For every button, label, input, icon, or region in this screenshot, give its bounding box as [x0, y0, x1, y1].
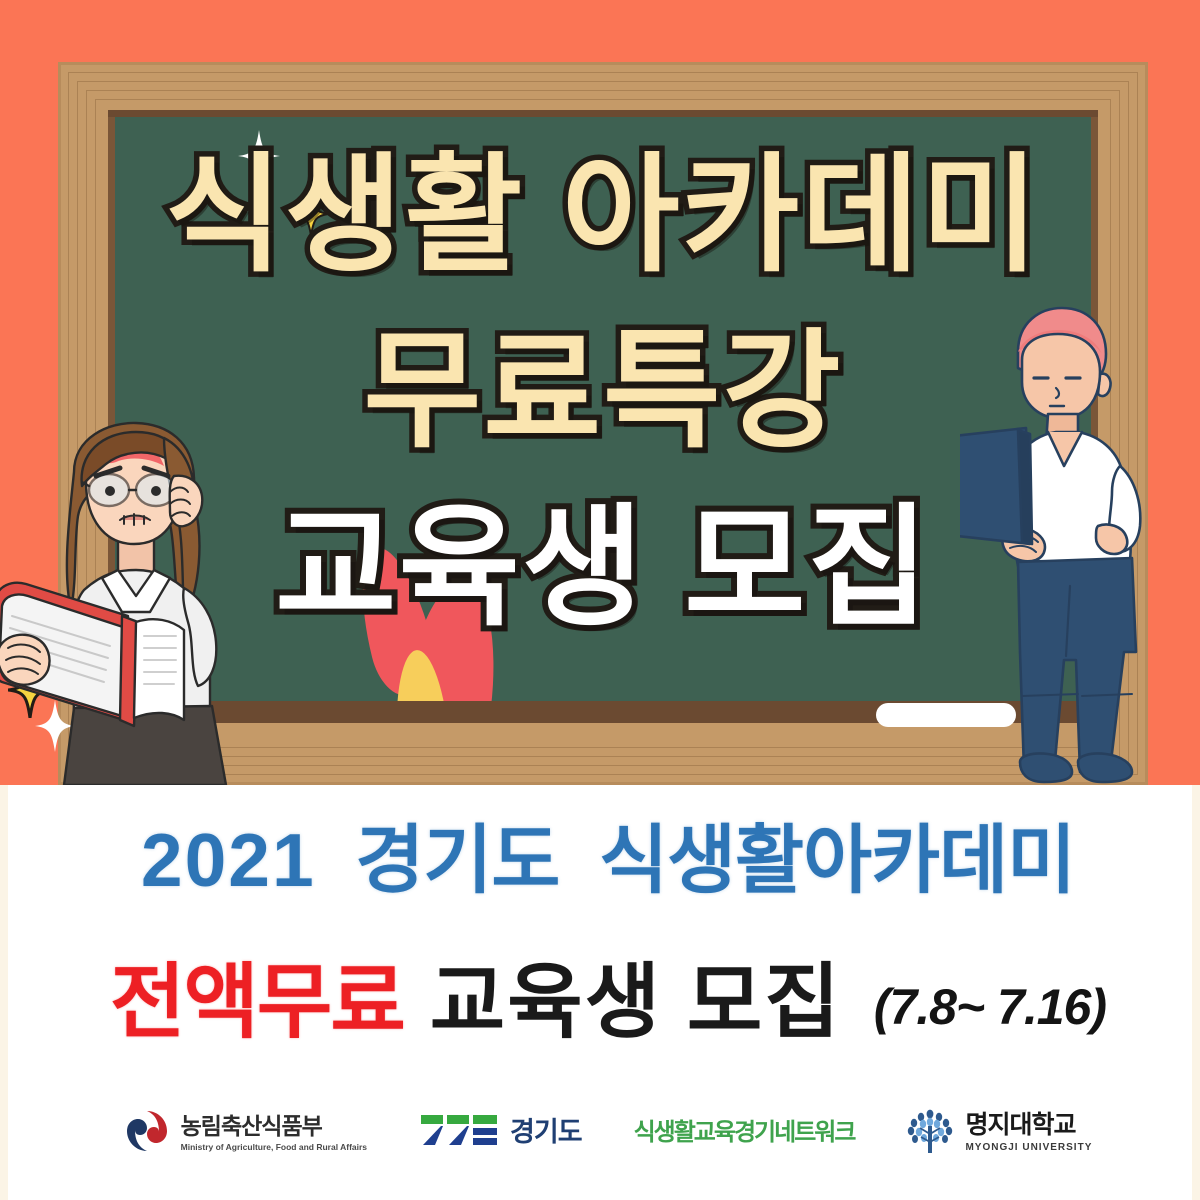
logo-gyeonggi-ko: 경기도 — [510, 1118, 582, 1148]
taegeuk-icon — [124, 1108, 170, 1159]
logo-network: 식생활교육경기네트워크 — [634, 1120, 855, 1146]
logo-gyeonggi: 경기도 — [419, 1112, 582, 1155]
banner-headline: 2021 경기도 식생활아카데미 — [8, 799, 1200, 908]
application-date-range: (7.8~ 7.16) — [874, 978, 1106, 1036]
recruit-label: 교육생 모집 — [430, 935, 842, 1054]
chalkboard-hero-section: 식생활 아카데미 무료특강 교육생 모집 — [0, 0, 1200, 785]
banner-subheadline: 전액무료 교육생 모집 (7.8~ 7.16) — [8, 935, 1200, 1054]
logo-myongji-ko: 명지대학교 — [965, 1112, 1092, 1140]
logo-myongji-en: MYONGJI UNIVERSITY — [965, 1142, 1092, 1154]
banner-program: 식생활아카데미 — [599, 818, 1075, 902]
gyeonggi-bars-icon — [419, 1112, 499, 1155]
logo-mafra-en: Ministry of Agriculture, Food and Rural … — [181, 1142, 367, 1152]
free-of-charge-label: 전액무료 — [110, 935, 404, 1054]
banner-region: 경기도 — [355, 818, 559, 902]
logo-myongji: 명지대학교 MYONGJI UNIVERSITY — [906, 1108, 1092, 1159]
student-man-holding-folder — [960, 300, 1172, 785]
event-banner-section: 2021 경기도 식생활아카데미 전액무료 교육생 모집 (7.8~ 7.16)… — [0, 785, 1200, 1200]
tree-icon — [906, 1108, 954, 1159]
poster-root: 식생활 아카데미 무료특강 교육생 모집 — [0, 0, 1200, 1200]
partner-logo-strip: 농림축산식품부 Ministry of Agriculture, Food an… — [8, 1090, 1200, 1176]
logo-mafra: 농림축산식품부 Ministry of Agriculture, Food an… — [124, 1108, 367, 1159]
headline-line-1: 식생활 아카데미 — [108, 152, 1098, 280]
logo-network-ko: 식생활교육경기네트워크 — [634, 1120, 855, 1146]
banner-year: 2021 — [141, 818, 316, 902]
student-woman-reading-book — [0, 420, 298, 785]
logo-mafra-ko: 농림축산식품부 — [181, 1114, 367, 1139]
